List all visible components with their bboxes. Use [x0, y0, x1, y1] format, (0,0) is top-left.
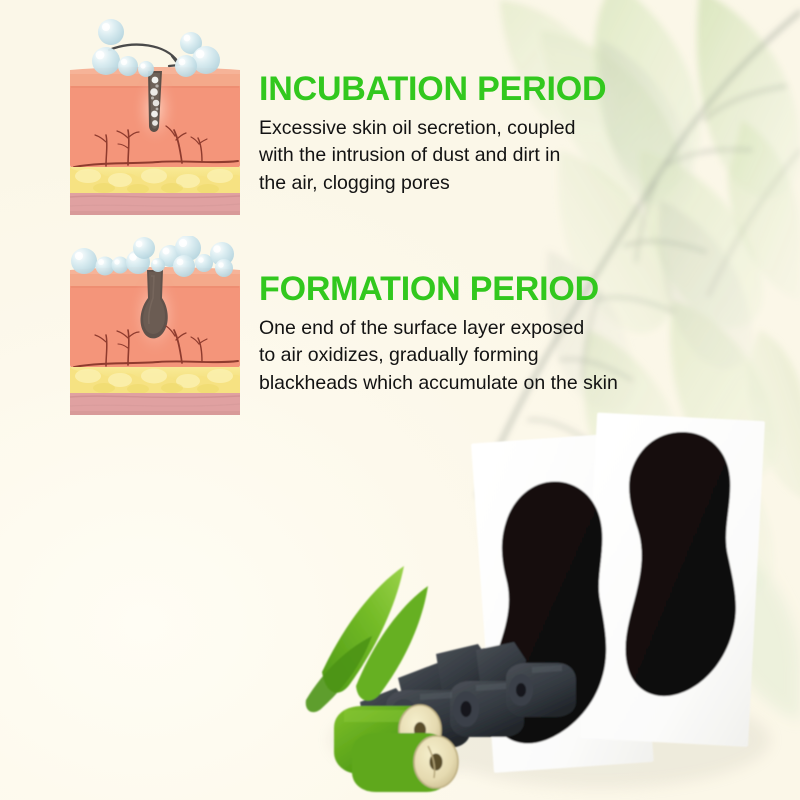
body-line: to air oxidizes, gradually forming [259, 342, 618, 370]
base-layer [70, 393, 240, 415]
section-incubation-text: INCUBATION PERIOD Excessive skin oil sec… [259, 72, 606, 198]
body-line: One end of the surface layer exposed [259, 315, 618, 343]
body-line: with the intrusion of dust and dirt in [259, 142, 606, 170]
diagram-incubation-skin-cross-section [62, 4, 248, 232]
body-line: the air, clogging pores [259, 170, 606, 198]
skin-block [70, 67, 240, 215]
bamboo-cut-end-lower [414, 736, 458, 788]
body-formation-period: One end of the surface layer exposed to … [259, 315, 618, 398]
body-line: blackheads which accumulate on the skin [259, 370, 618, 398]
body-line: Excessive skin oil secretion, coupled [259, 115, 606, 143]
fat-layer [70, 167, 240, 194]
body-incubation-period: Excessive skin oil secretion, coupled wi… [259, 115, 606, 198]
heading-incubation-period: INCUBATION PERIOD [259, 72, 606, 108]
product-infographic-poster: INCUBATION PERIOD Excessive skin oil sec… [0, 0, 800, 800]
nose-strip-right [625, 432, 735, 696]
product-photo-nose-strips [300, 410, 800, 800]
diagram-formation-skin-cross-section [62, 236, 248, 432]
fat-layer [70, 367, 240, 394]
base-layer [70, 193, 240, 215]
skin-block [70, 267, 240, 415]
section-formation-text: FORMATION PERIOD One end of the surface … [259, 272, 618, 398]
heading-formation-period: FORMATION PERIOD [259, 272, 618, 308]
